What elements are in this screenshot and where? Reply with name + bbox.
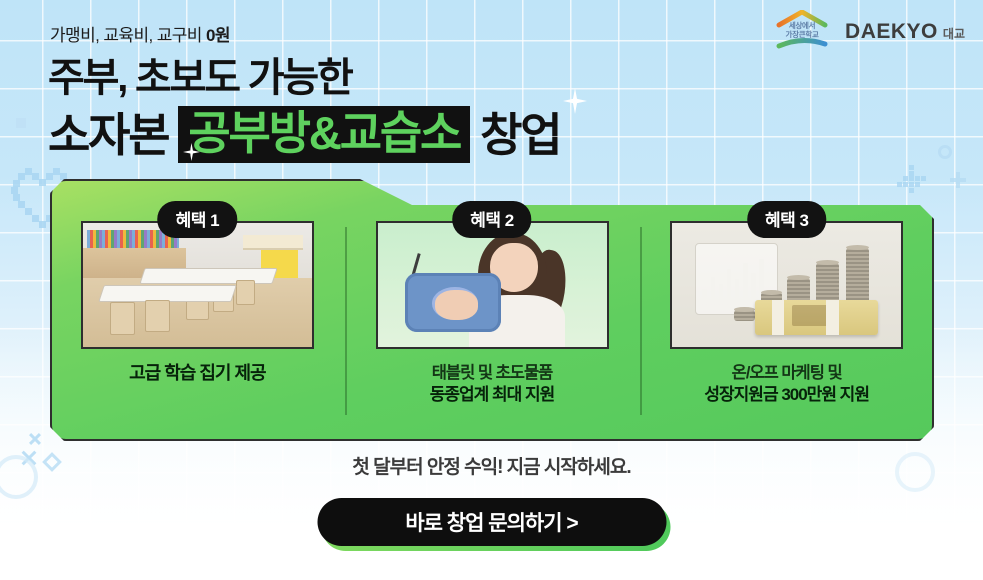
brand-logo: 세상에서 가장큰학교 DAEKYO 대교	[771, 10, 965, 52]
sparkle-icon-top	[563, 88, 587, 114]
headline-highlight: 공부방&교습소	[178, 106, 470, 163]
page-title: 주부, 초보도 가능한 소자본 공부방&교습소 창업	[48, 50, 560, 163]
benefit-badge-3: 혜택 3	[747, 201, 826, 238]
promo-banner: 세상에서 가장큰학교 DAEKYO 대교 가맹비, 교육비, 교구비 0원 주부…	[0, 0, 983, 580]
headline-prefix: 소자본	[48, 107, 178, 163]
eyebrow-label: 가맹비, 교육비, 교구비	[50, 26, 206, 45]
benefit-badge-1: 혜택 1	[158, 201, 237, 238]
benefit-item-3: 혜택 3	[639, 179, 934, 441]
benefit-image-3	[670, 221, 903, 349]
benefit-image-1	[81, 221, 314, 349]
benefit-caption-1: 고급 학습 집기 제공	[129, 363, 265, 384]
benefit-caption-1-line-1: 고급 학습 집기 제공	[129, 363, 265, 384]
headline-suffix: 창업	[470, 107, 560, 163]
school-tagline-line1: 세상에서	[771, 21, 833, 30]
pixel-x-decoration-small	[28, 432, 42, 446]
pixel-circle-decoration	[938, 145, 952, 159]
headline-line-2: 소자본 공부방&교습소 창업	[48, 106, 560, 163]
benefit-caption-2-line-2: 동종업계 최대 지원	[430, 384, 555, 405]
benefits-row: 혜택 1 고급 학습 집기 제공 혜택 2	[50, 179, 934, 441]
benefit-badge-2: 혜택 2	[452, 201, 531, 238]
cta-subtext: 첫 달부터 안정 수익! 지금 시작하세요.	[0, 452, 983, 479]
benefit-caption-3-line-1: 온/오프 마케팅 및	[704, 363, 869, 384]
eyebrow-text: 가맹비, 교육비, 교구비 0원	[50, 21, 230, 46]
benefit-caption-3: 온/오프 마케팅 및 성장지원금 300만원 지원	[704, 363, 869, 405]
benefit-caption-2: 태블릿 및 초도물품 동종업계 최대 지원	[430, 363, 555, 405]
school-tagline-line2: 가장큰학교	[771, 30, 833, 39]
daekyo-wordmark-latin: DAEKYO	[845, 21, 938, 42]
benefit-item-1: 혜택 1 고급 학습 집기 제공	[50, 179, 345, 441]
school-mark-icon: 세상에서 가장큰학교	[771, 10, 833, 52]
cta-button-wrapper: 바로 창업 문의하기 >	[317, 498, 666, 546]
daekyo-wordmark: DAEKYO 대교	[845, 21, 965, 42]
pixel-dot-decoration	[16, 118, 26, 128]
benefit-caption-2-line-1: 태블릿 및 초도물품	[430, 363, 555, 384]
benefit-image-2	[376, 221, 609, 349]
daekyo-wordmark-korean: 대교	[943, 28, 965, 42]
benefit-caption-3-line-2: 성장지원금 300만원 지원	[704, 384, 869, 405]
headline-line-1: 주부, 초보도 가능한	[48, 50, 560, 106]
pixel-plus-decoration	[950, 172, 966, 188]
inquiry-cta-button[interactable]: 바로 창업 문의하기 >	[317, 498, 666, 546]
benefit-item-2: 혜택 2 태블릿 및 초도물품 동종업계 최대 지원	[345, 179, 640, 441]
eyebrow-emphasis: 0원	[206, 26, 230, 45]
